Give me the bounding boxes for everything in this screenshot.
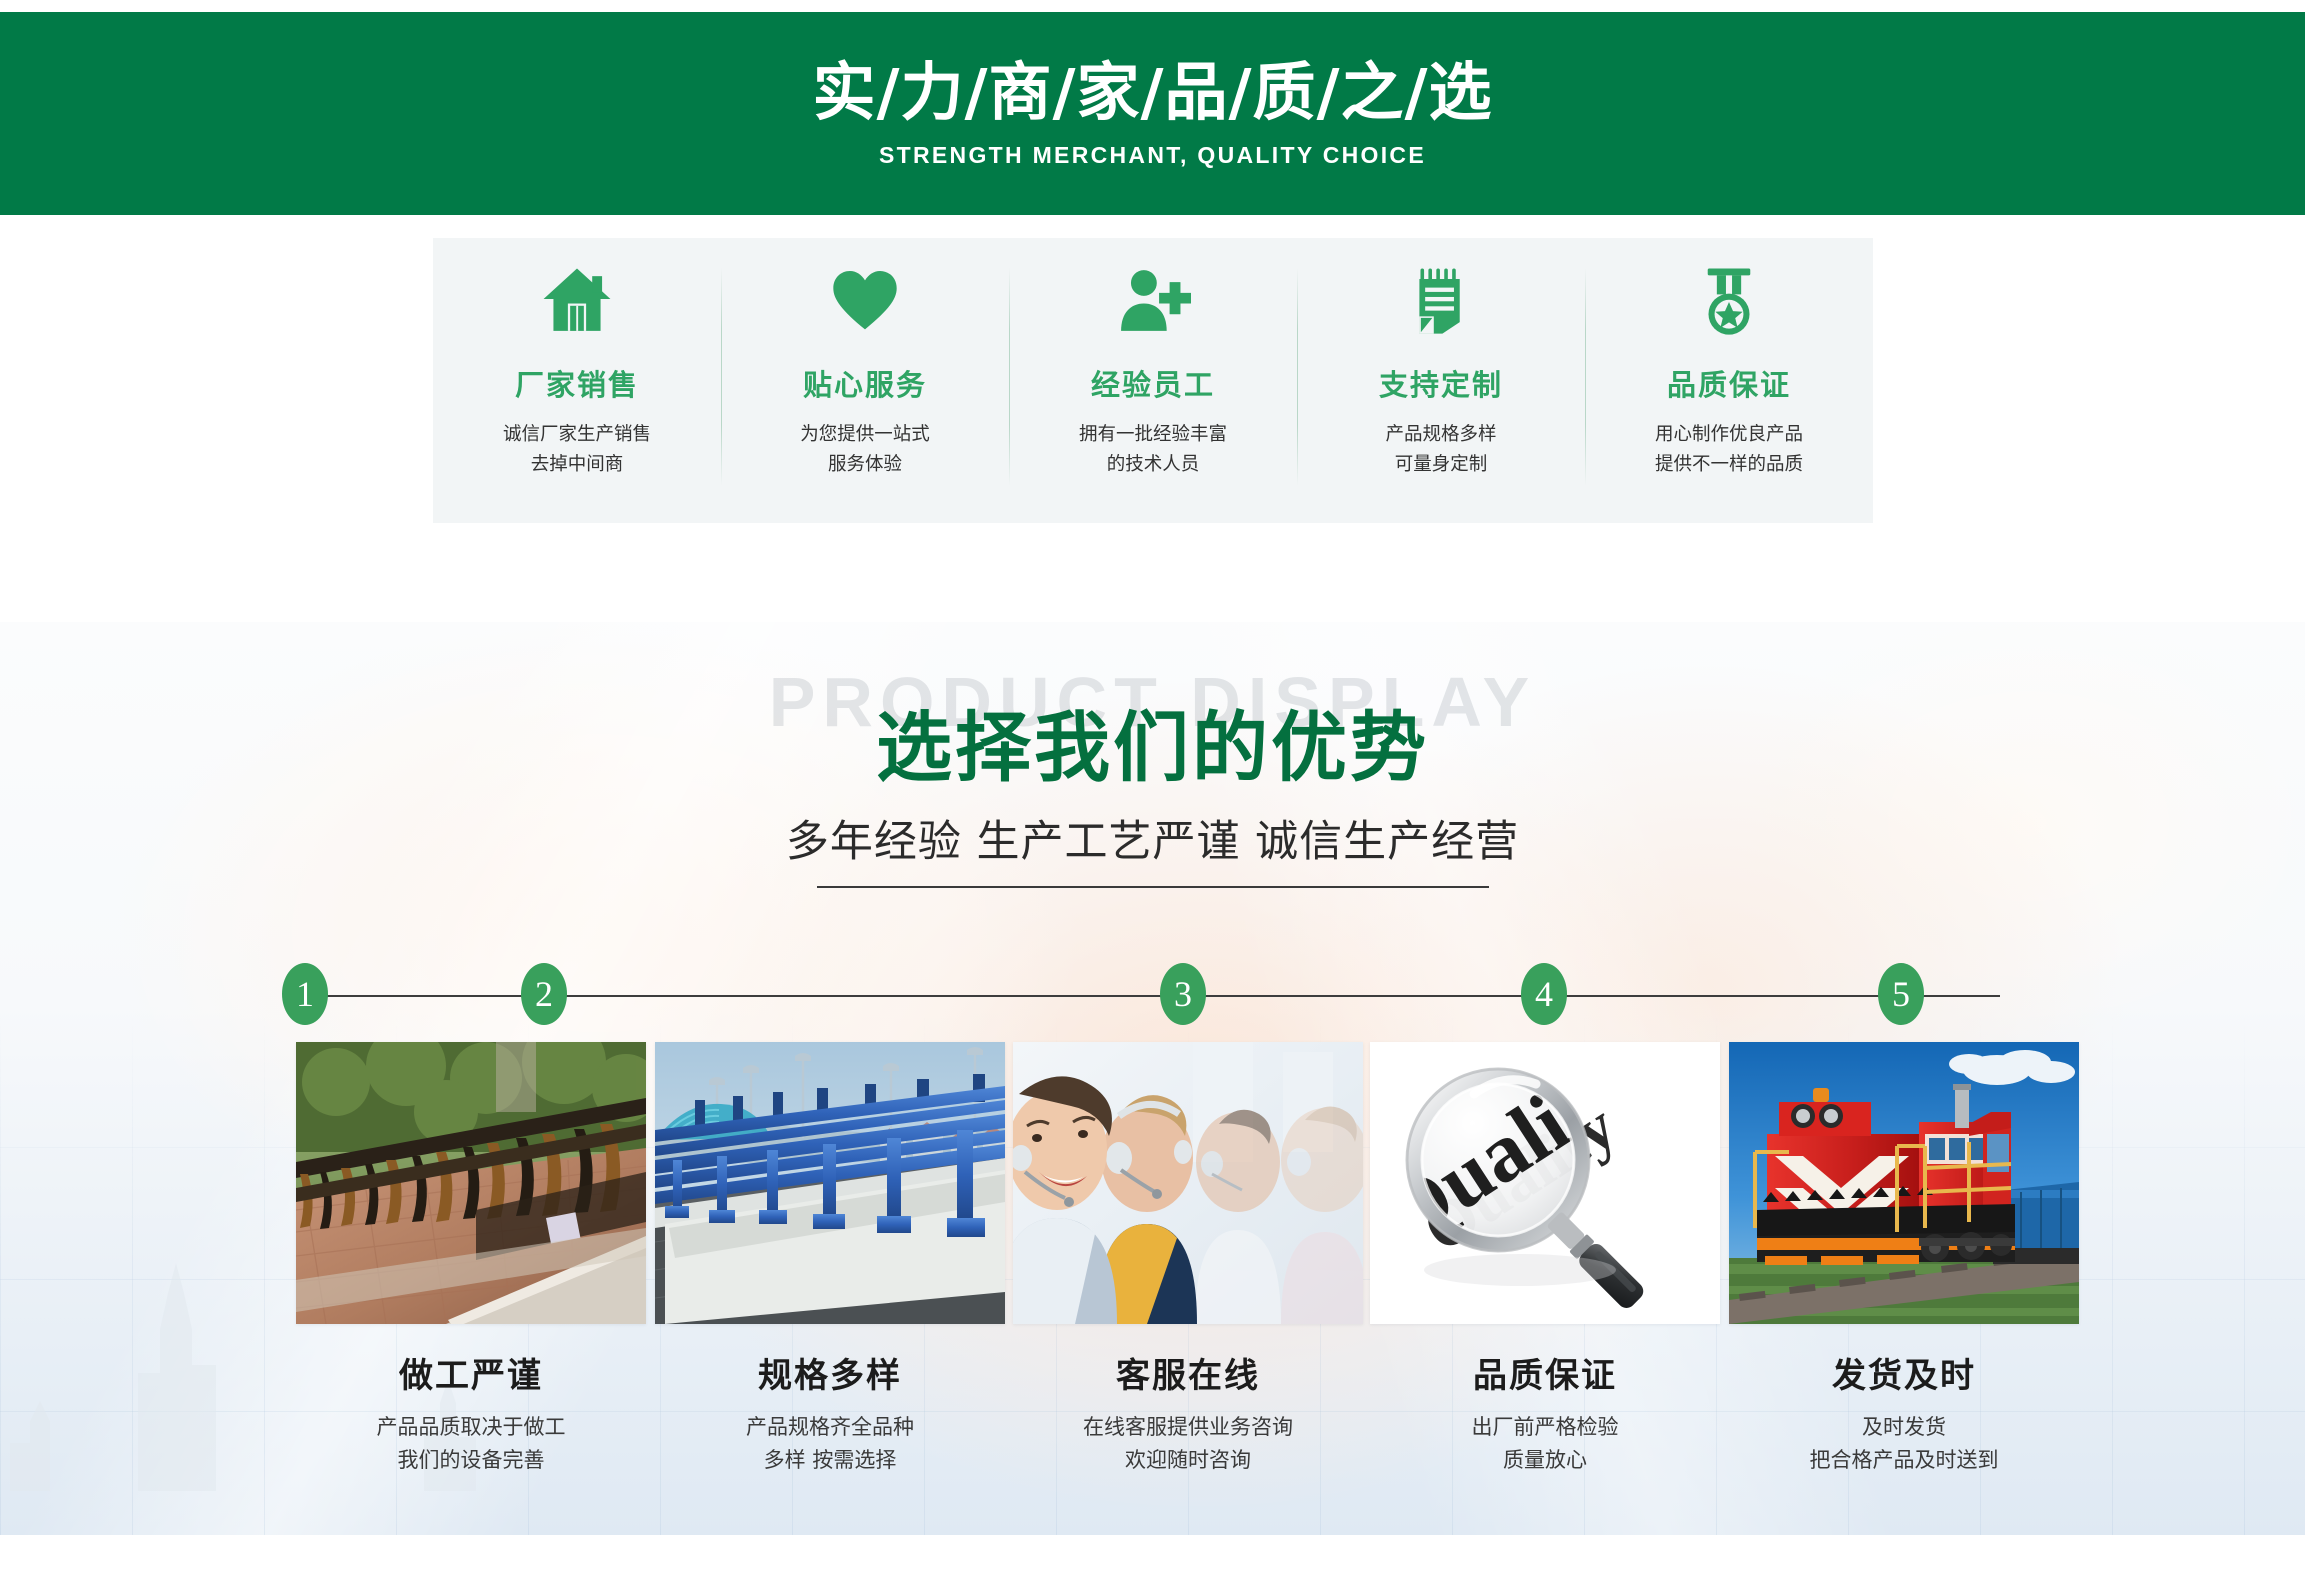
advantage-section: PRODUCT DISPLAY 选择我们的优势 多年经验 生产工艺严谨 诚信生产…	[0, 622, 2305, 1535]
customer-service-team-photo	[1013, 1042, 1363, 1324]
step-desc-line2: 把合格产品及时送到	[1810, 1448, 1999, 1472]
feature-desc-line1: 诚信厂家生产销售	[503, 424, 651, 445]
step-card-desc: 在线客服提供业务咨询 欢迎随时咨询	[1013, 1411, 1363, 1477]
bronze-guardrail-photo	[296, 1042, 646, 1324]
step-card-title: 规格多样	[655, 1348, 1005, 1397]
feature-desc-line2: 服务体验	[828, 454, 902, 475]
step-desc-line1: 产品品质取决于做工	[377, 1415, 566, 1439]
features-panel: 厂家销售 诚信厂家生产销售 去掉中间商 贴心服务 为您提供一站式 服务体验	[433, 238, 1873, 523]
feature-desc-line2: 去掉中间商	[531, 454, 624, 475]
feature-desc-line1: 产品规格多样	[1385, 424, 1496, 445]
feature-item-quality-guarantee[interactable]: 品质保证 用心制作优良产品 提供不一样的品质	[1585, 238, 1873, 523]
step-card-5[interactable]: 发货及时 及时发货 把合格产品及时送到	[1729, 1042, 2079, 1477]
step-desc-line1: 产品规格齐全品种	[746, 1415, 914, 1439]
feature-desc-line1: 用心制作优良产品	[1655, 424, 1803, 445]
step-card-title: 发货及时	[1729, 1348, 2079, 1397]
step-card-title: 客服在线	[1013, 1348, 1363, 1397]
feature-desc: 产品规格多样 可量身定制	[1385, 420, 1496, 480]
step-card-4[interactable]: Quality Quality	[1370, 1042, 1720, 1477]
quality-magnifier-photo: Quality Quality	[1370, 1042, 1720, 1324]
feature-desc-line1: 拥有一批经验丰富	[1079, 424, 1227, 445]
feature-item-custom-support[interactable]: 支持定制 产品规格多样 可量身定制	[1297, 238, 1585, 523]
timeline-node-4[interactable]: 4	[1521, 963, 1567, 1025]
step-card-2[interactable]: 规格多样 产品规格齐全品种 多样 按需选择	[655, 1042, 1005, 1477]
feature-desc: 诚信厂家生产销售 去掉中间商	[503, 420, 651, 480]
feature-title: 厂家销售	[515, 362, 639, 404]
step-desc-line2: 多样 按需选择	[764, 1448, 897, 1472]
step-desc-line1: 出厂前严格检验	[1472, 1415, 1619, 1439]
timeline-node-5[interactable]: 5	[1878, 963, 1924, 1025]
step-card-1[interactable]: 做工严谨 产品品质取决于做工 我们的设备完善	[296, 1042, 646, 1477]
banner-subtitle: STRENGTH MERCHANT, QUALITY CHOICE	[879, 142, 1426, 169]
step-card-3[interactable]: 客服在线 在线客服提供业务咨询 欢迎随时咨询	[1013, 1042, 1363, 1477]
step-desc-line1: 及时发货	[1862, 1415, 1946, 1439]
heart-icon	[827, 264, 903, 340]
features-section: 厂家销售 诚信厂家生产销售 去掉中间商 贴心服务 为您提供一站式 服务体验	[0, 215, 2305, 585]
step-desc-line2: 我们的设备完善	[398, 1448, 545, 1472]
step-card-desc: 及时发货 把合格产品及时送到	[1729, 1411, 2079, 1477]
medal-icon	[1691, 264, 1767, 340]
timeline-node-3[interactable]: 3	[1160, 963, 1206, 1025]
feature-item-manufacturer-sales[interactable]: 厂家销售 诚信厂家生产销售 去掉中间商	[433, 238, 721, 523]
step-desc-line2: 质量放心	[1503, 1448, 1587, 1472]
step-card-desc: 出厂前严格检验 质量放心	[1370, 1411, 1720, 1477]
feature-title: 支持定制	[1379, 362, 1503, 404]
feature-item-caring-service[interactable]: 贴心服务 为您提供一站式 服务体验	[721, 238, 1009, 523]
red-locomotive-photo	[1729, 1042, 2079, 1324]
feature-item-experienced-staff[interactable]: 经验员工 拥有一批经验丰富 的技术人员	[1009, 238, 1297, 523]
feature-desc: 拥有一批经验丰富 的技术人员	[1079, 420, 1227, 480]
step-desc-line2: 欢迎随时咨询	[1125, 1448, 1251, 1472]
steps-timeline: 1 2 3 4 5	[0, 622, 2305, 1535]
feature-desc-line2: 可量身定制	[1395, 454, 1488, 475]
step-card-desc: 产品规格齐全品种 多样 按需选择	[655, 1411, 1005, 1477]
feature-title: 贴心服务	[803, 362, 927, 404]
step-card-desc: 产品品质取决于做工 我们的设备完善	[296, 1411, 646, 1477]
person-plus-icon	[1115, 264, 1191, 340]
blue-bridge-guardrail-photo	[655, 1042, 1005, 1324]
feature-desc-line2: 提供不一样的品质	[1655, 454, 1803, 475]
feature-desc: 用心制作优良产品 提供不一样的品质	[1655, 420, 1803, 480]
feature-desc-line2: 的技术人员	[1107, 454, 1200, 475]
feature-title: 品质保证	[1667, 362, 1791, 404]
step-card-title: 做工严谨	[296, 1348, 646, 1397]
banner-title: 实/力/商/家/品/质/之/选	[812, 58, 1492, 129]
feature-desc: 为您提供一站式 服务体验	[800, 420, 930, 480]
timeline-node-1[interactable]: 1	[282, 963, 328, 1025]
feature-desc-line1: 为您提供一站式	[800, 424, 930, 445]
strength-banner: 实/力/商/家/品/质/之/选 STRENGTH MERCHANT, QUALI…	[0, 12, 2305, 215]
step-desc-line1: 在线客服提供业务咨询	[1083, 1415, 1293, 1439]
timeline-node-2[interactable]: 2	[521, 963, 567, 1025]
house-icon	[539, 264, 615, 340]
step-card-title: 品质保证	[1370, 1348, 1720, 1397]
feature-title: 经验员工	[1091, 362, 1215, 404]
notepad-icon	[1403, 264, 1479, 340]
